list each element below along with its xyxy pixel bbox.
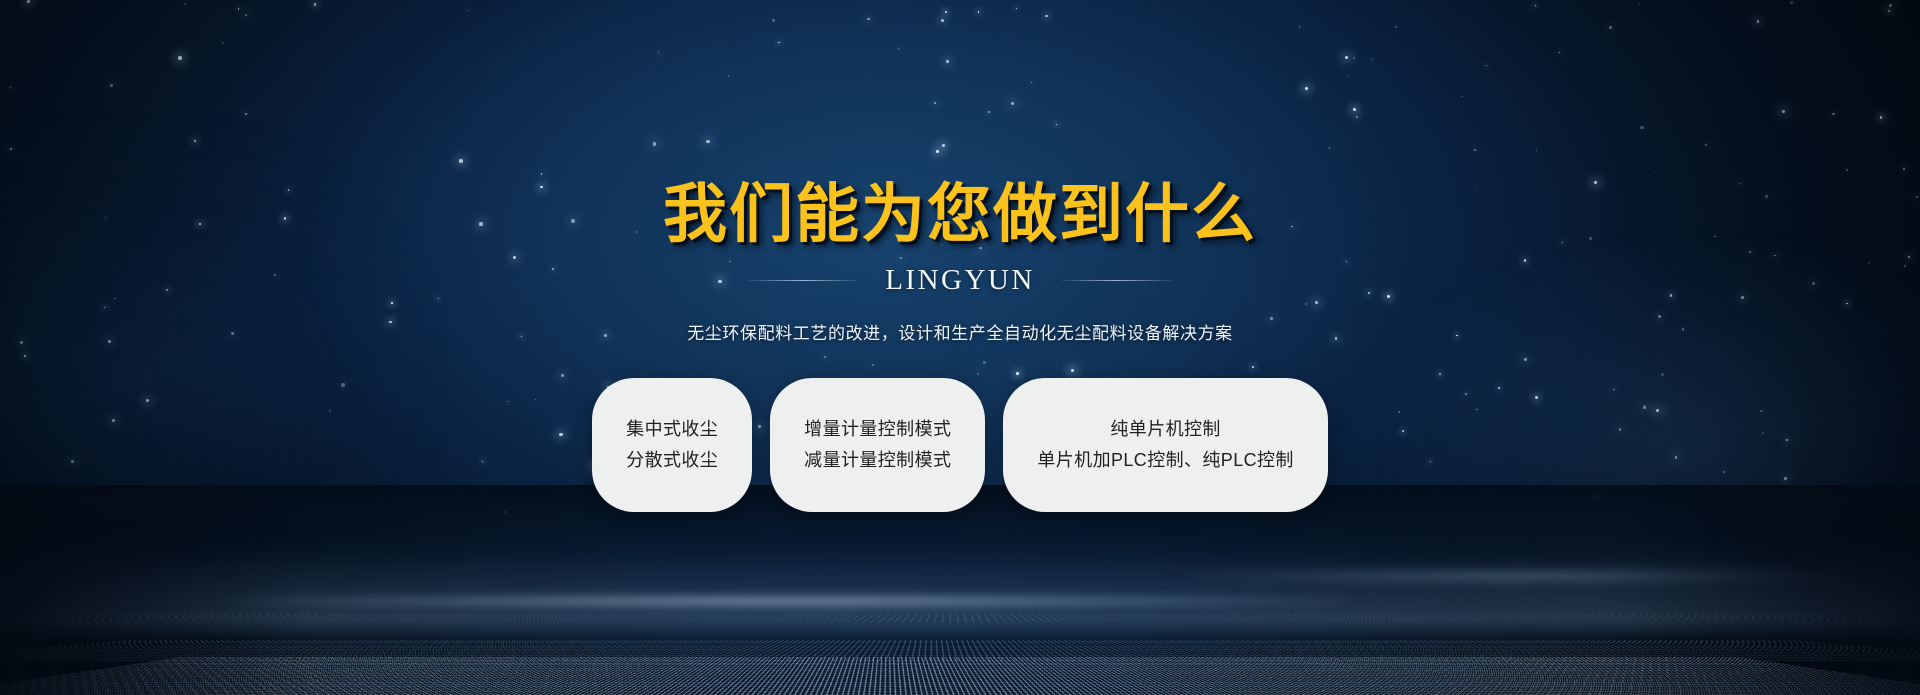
subtitle-row: LINGYUN xyxy=(747,264,1173,297)
banner-content: 我们能为您做到什么 LINGYUN 无尘环保配料工艺的改进，设计和生产全自动化无… xyxy=(0,0,1920,695)
banner-description: 无尘环保配料工艺的改进，设计和生产全自动化无尘配料设备解决方案 xyxy=(687,319,1233,344)
feature-card-line: 单片机加PLC控制、纯PLC控制 xyxy=(1037,450,1293,471)
banner-subtitle-en: LINGYUN xyxy=(885,264,1035,297)
feature-card-line: 纯单片机控制 xyxy=(1110,419,1220,440)
feature-card-line: 集中式收尘 xyxy=(626,419,718,440)
subtitle-rule-right xyxy=(1061,280,1173,281)
subtitle-rule-left xyxy=(747,280,859,281)
banner-headline: 我们能为您做到什么 xyxy=(663,182,1257,250)
feature-card-list: 集中式收尘 分散式收尘 增量计量控制模式 减量计量控制模式 纯单片机控制 单片机… xyxy=(592,378,1328,512)
feature-card-control-system[interactable]: 纯单片机控制 单片机加PLC控制、纯PLC控制 xyxy=(1003,378,1327,512)
feature-card-line: 分散式收尘 xyxy=(626,450,718,471)
hero-banner: 我们能为您做到什么 LINGYUN 无尘环保配料工艺的改进，设计和生产全自动化无… xyxy=(0,0,1920,695)
feature-card-dust-collection[interactable]: 集中式收尘 分散式收尘 xyxy=(592,378,752,512)
feature-card-metering-mode[interactable]: 增量计量控制模式 减量计量控制模式 xyxy=(770,378,985,512)
feature-card-line: 增量计量控制模式 xyxy=(804,419,951,440)
feature-card-line: 减量计量控制模式 xyxy=(804,450,951,471)
